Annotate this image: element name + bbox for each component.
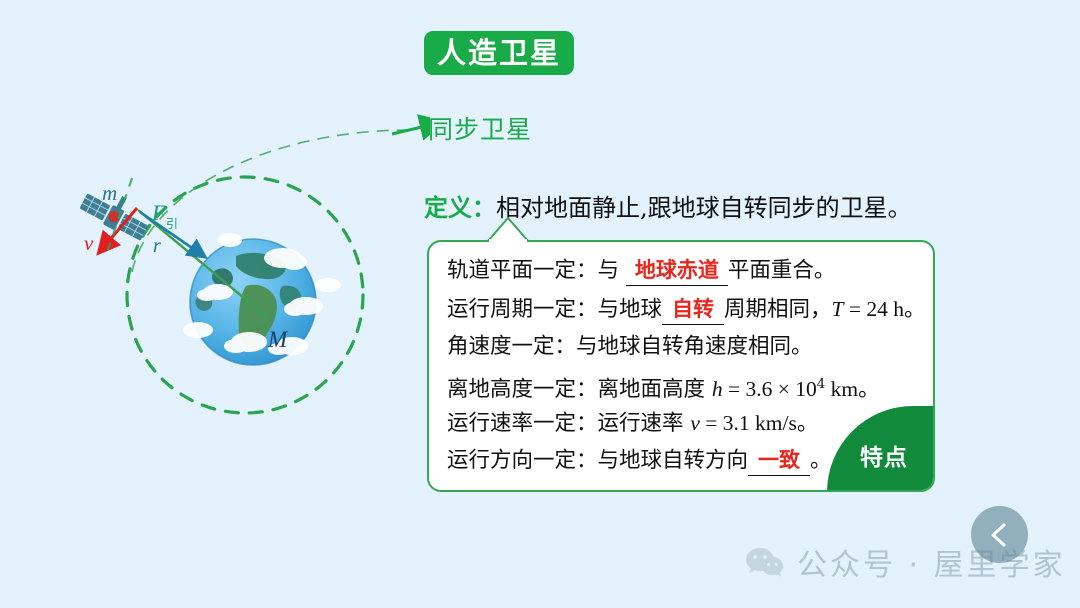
- formula-value: = 3.1 km/s。: [700, 411, 818, 435]
- label-F-sub: 引: [166, 217, 178, 231]
- line-prefix: 轨道平面一定：与: [447, 258, 626, 283]
- label-F: F: [151, 200, 166, 225]
- earth-illustration: [183, 233, 341, 365]
- feature-line-altitude: 离地高度一定：离地面高度 h = 3.6 × 104 km。: [447, 366, 927, 404]
- line-prefix: 运行速率一定：运行速率: [447, 411, 690, 436]
- definition-body: 相对地面静止,跟地球自转同步的卫星。: [496, 194, 912, 222]
- corner-badge-label: 特点: [854, 438, 908, 492]
- blank-answer[interactable]: 自转: [662, 296, 724, 325]
- label-v: v: [84, 231, 94, 255]
- feature-line-angular-velocity: 角速度一定：与地球自转角速度相同。: [447, 328, 927, 366]
- satellite-orbit-diagram: m v F 引 r M: [40, 90, 430, 450]
- page-title: 人造卫星: [437, 39, 561, 68]
- wechat-icon: [745, 546, 785, 578]
- prev-slide-button[interactable]: [971, 506, 1028, 563]
- feature-box: 轨道平面一定：与 地球赤道平面重合。 运行周期一定：与地球自转周期相同，T = …: [427, 240, 935, 492]
- label-m: m: [102, 181, 117, 205]
- formula-variable: T: [832, 297, 844, 321]
- line-suffix: 周期相同，: [724, 297, 832, 322]
- feature-line-orbit-plane: 轨道平面一定：与 地球赤道平面重合。: [447, 252, 927, 290]
- formula-value: = 24 h。: [844, 297, 926, 321]
- slide-canvas: 人造卫星: [0, 0, 1080, 608]
- blank-answer[interactable]: 一致: [748, 447, 810, 476]
- callout-tail: [486, 216, 530, 242]
- line-suffix: 。: [810, 448, 832, 473]
- slide-title-badge: 人造卫星: [424, 31, 574, 75]
- formula-unit: km。: [825, 377, 879, 401]
- line-suffix: 平面重合。: [728, 258, 836, 283]
- sync-satellite-label: 同步卫星: [428, 110, 532, 146]
- feature-line-orbit-period: 运行周期一定：与地球自转周期相同，T = 24 h。: [447, 290, 927, 328]
- formula-exponent: 4: [817, 377, 825, 392]
- formula-variable: h: [712, 377, 723, 401]
- line-prefix: 运行周期一定：与地球: [447, 297, 662, 322]
- line-prefix: 离地高度一定：离地面高度: [447, 377, 712, 402]
- formula-variable: v: [690, 411, 700, 435]
- blank-answer[interactable]: 地球赤道: [626, 257, 728, 286]
- label-M: M: [267, 327, 289, 352]
- line-prefix: 角速度一定：与地球自转角速度相同。: [447, 334, 813, 359]
- label-r: r: [153, 235, 161, 257]
- chevron-left-icon: [987, 522, 1013, 548]
- watermark-text: 公众号 · 屋里学家: [797, 540, 1066, 584]
- formula-value: = 3.6 × 10: [723, 377, 817, 401]
- line-prefix: 运行方向一定：与地球自转方向: [447, 448, 748, 473]
